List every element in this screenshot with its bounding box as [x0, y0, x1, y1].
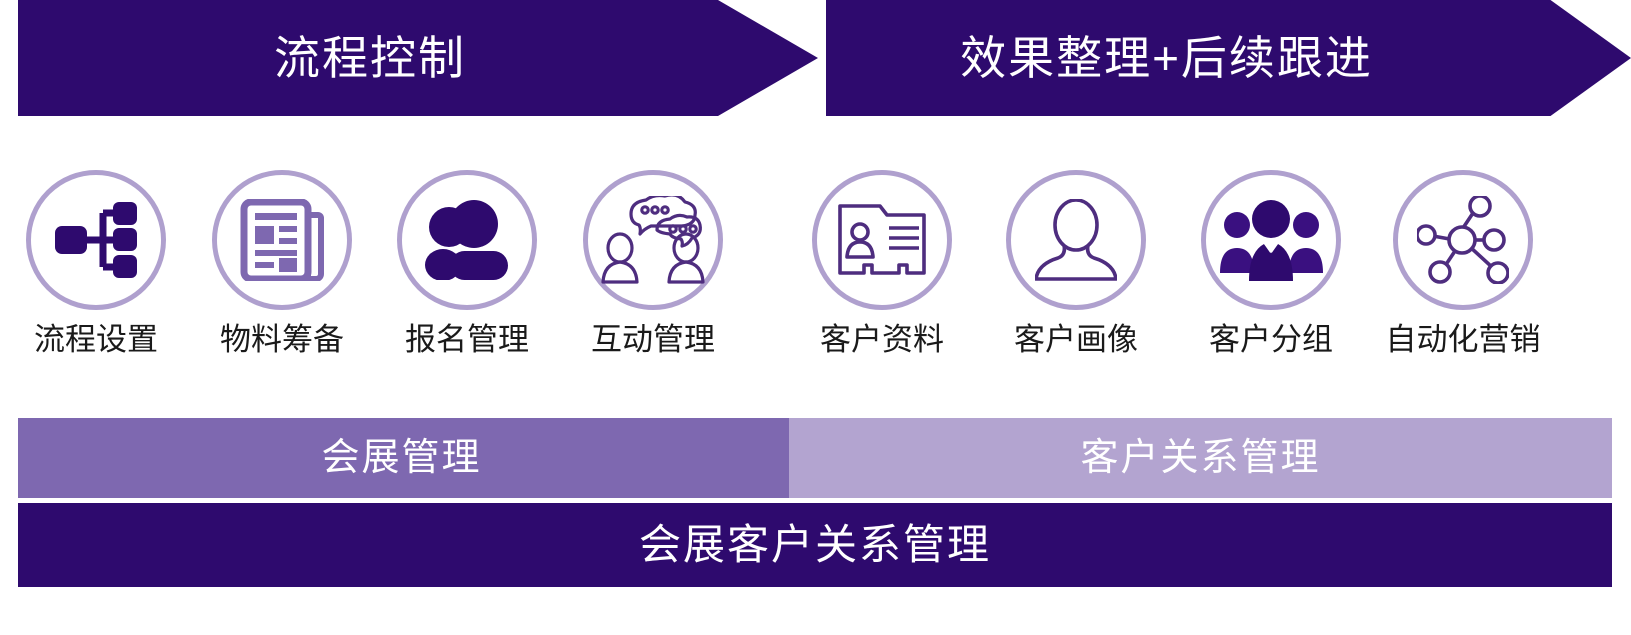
feature-item-registration-management[interactable]: 报名管理 — [376, 170, 558, 355]
id-card-profile-icon — [837, 203, 927, 277]
feature-item-label: 物料筹备 — [220, 324, 344, 355]
feature-item-customer-profile-data[interactable]: 客户资料 — [791, 170, 973, 355]
feature-item-label: 客户画像 — [1014, 324, 1138, 355]
summary-bar: 会展客户关系管理 — [18, 503, 1612, 587]
feature-item-material-preparation[interactable]: 物料筹备 — [191, 170, 373, 355]
summary-bar-label: 会展客户关系管理 — [639, 524, 991, 566]
feature-icon-row: 流程设置 物料筹备 — [0, 170, 1631, 385]
icon-circle — [397, 170, 537, 310]
category-bar-row: 会展管理 客户关系管理 — [18, 418, 1612, 498]
feature-item-label: 客户分组 — [1209, 324, 1333, 355]
network-hub-icon — [1417, 196, 1509, 284]
category-bar-customer-relationship-management: 客户关系管理 — [789, 418, 1612, 498]
category-bar-label: 会展管理 — [321, 439, 481, 477]
icon-circle — [212, 170, 352, 310]
feature-item-label: 报名管理 — [405, 324, 529, 355]
icon-circle — [812, 170, 952, 310]
feature-item-label: 流程设置 — [34, 324, 158, 355]
person-portrait-icon — [1035, 199, 1117, 281]
icon-circle — [26, 170, 166, 310]
icon-circle — [1393, 170, 1533, 310]
icon-circle — [1201, 170, 1341, 310]
category-bar-label: 客户关系管理 — [1080, 439, 1320, 477]
stage-banner-results-followup: 效果整理+后续跟进 — [826, 0, 1631, 116]
stage-banner-row: 流程控制 效果整理+后续跟进 — [0, 0, 1631, 116]
icon-circle — [583, 170, 723, 310]
feature-item-label: 客户资料 — [820, 324, 944, 355]
people-team-icon — [1219, 199, 1323, 281]
feature-item-interaction-management[interactable]: 互动管理 — [562, 170, 744, 355]
feature-item-label: 自动化营销 — [1386, 324, 1541, 355]
feature-item-customer-persona[interactable]: 客户画像 — [985, 170, 1167, 355]
stage-banner-process-control: 流程控制 — [18, 0, 818, 116]
stage-banner-label: 流程控制 — [274, 35, 466, 81]
feature-item-process-setup[interactable]: 流程设置 — [5, 170, 187, 355]
users-group-icon — [423, 200, 511, 280]
stage-banner-label: 效果整理+后续跟进 — [960, 35, 1373, 81]
feature-item-label: 互动管理 — [591, 324, 715, 355]
people-chat-bubbles-icon — [601, 196, 705, 284]
sitemap-icon — [53, 201, 139, 279]
newspaper-icon — [240, 199, 324, 281]
category-bar-exhibition-management: 会展管理 — [18, 418, 789, 498]
feature-item-marketing-automation[interactable]: 自动化营销 — [1372, 170, 1554, 355]
icon-circle — [1006, 170, 1146, 310]
feature-item-customer-segmentation[interactable]: 客户分组 — [1180, 170, 1362, 355]
